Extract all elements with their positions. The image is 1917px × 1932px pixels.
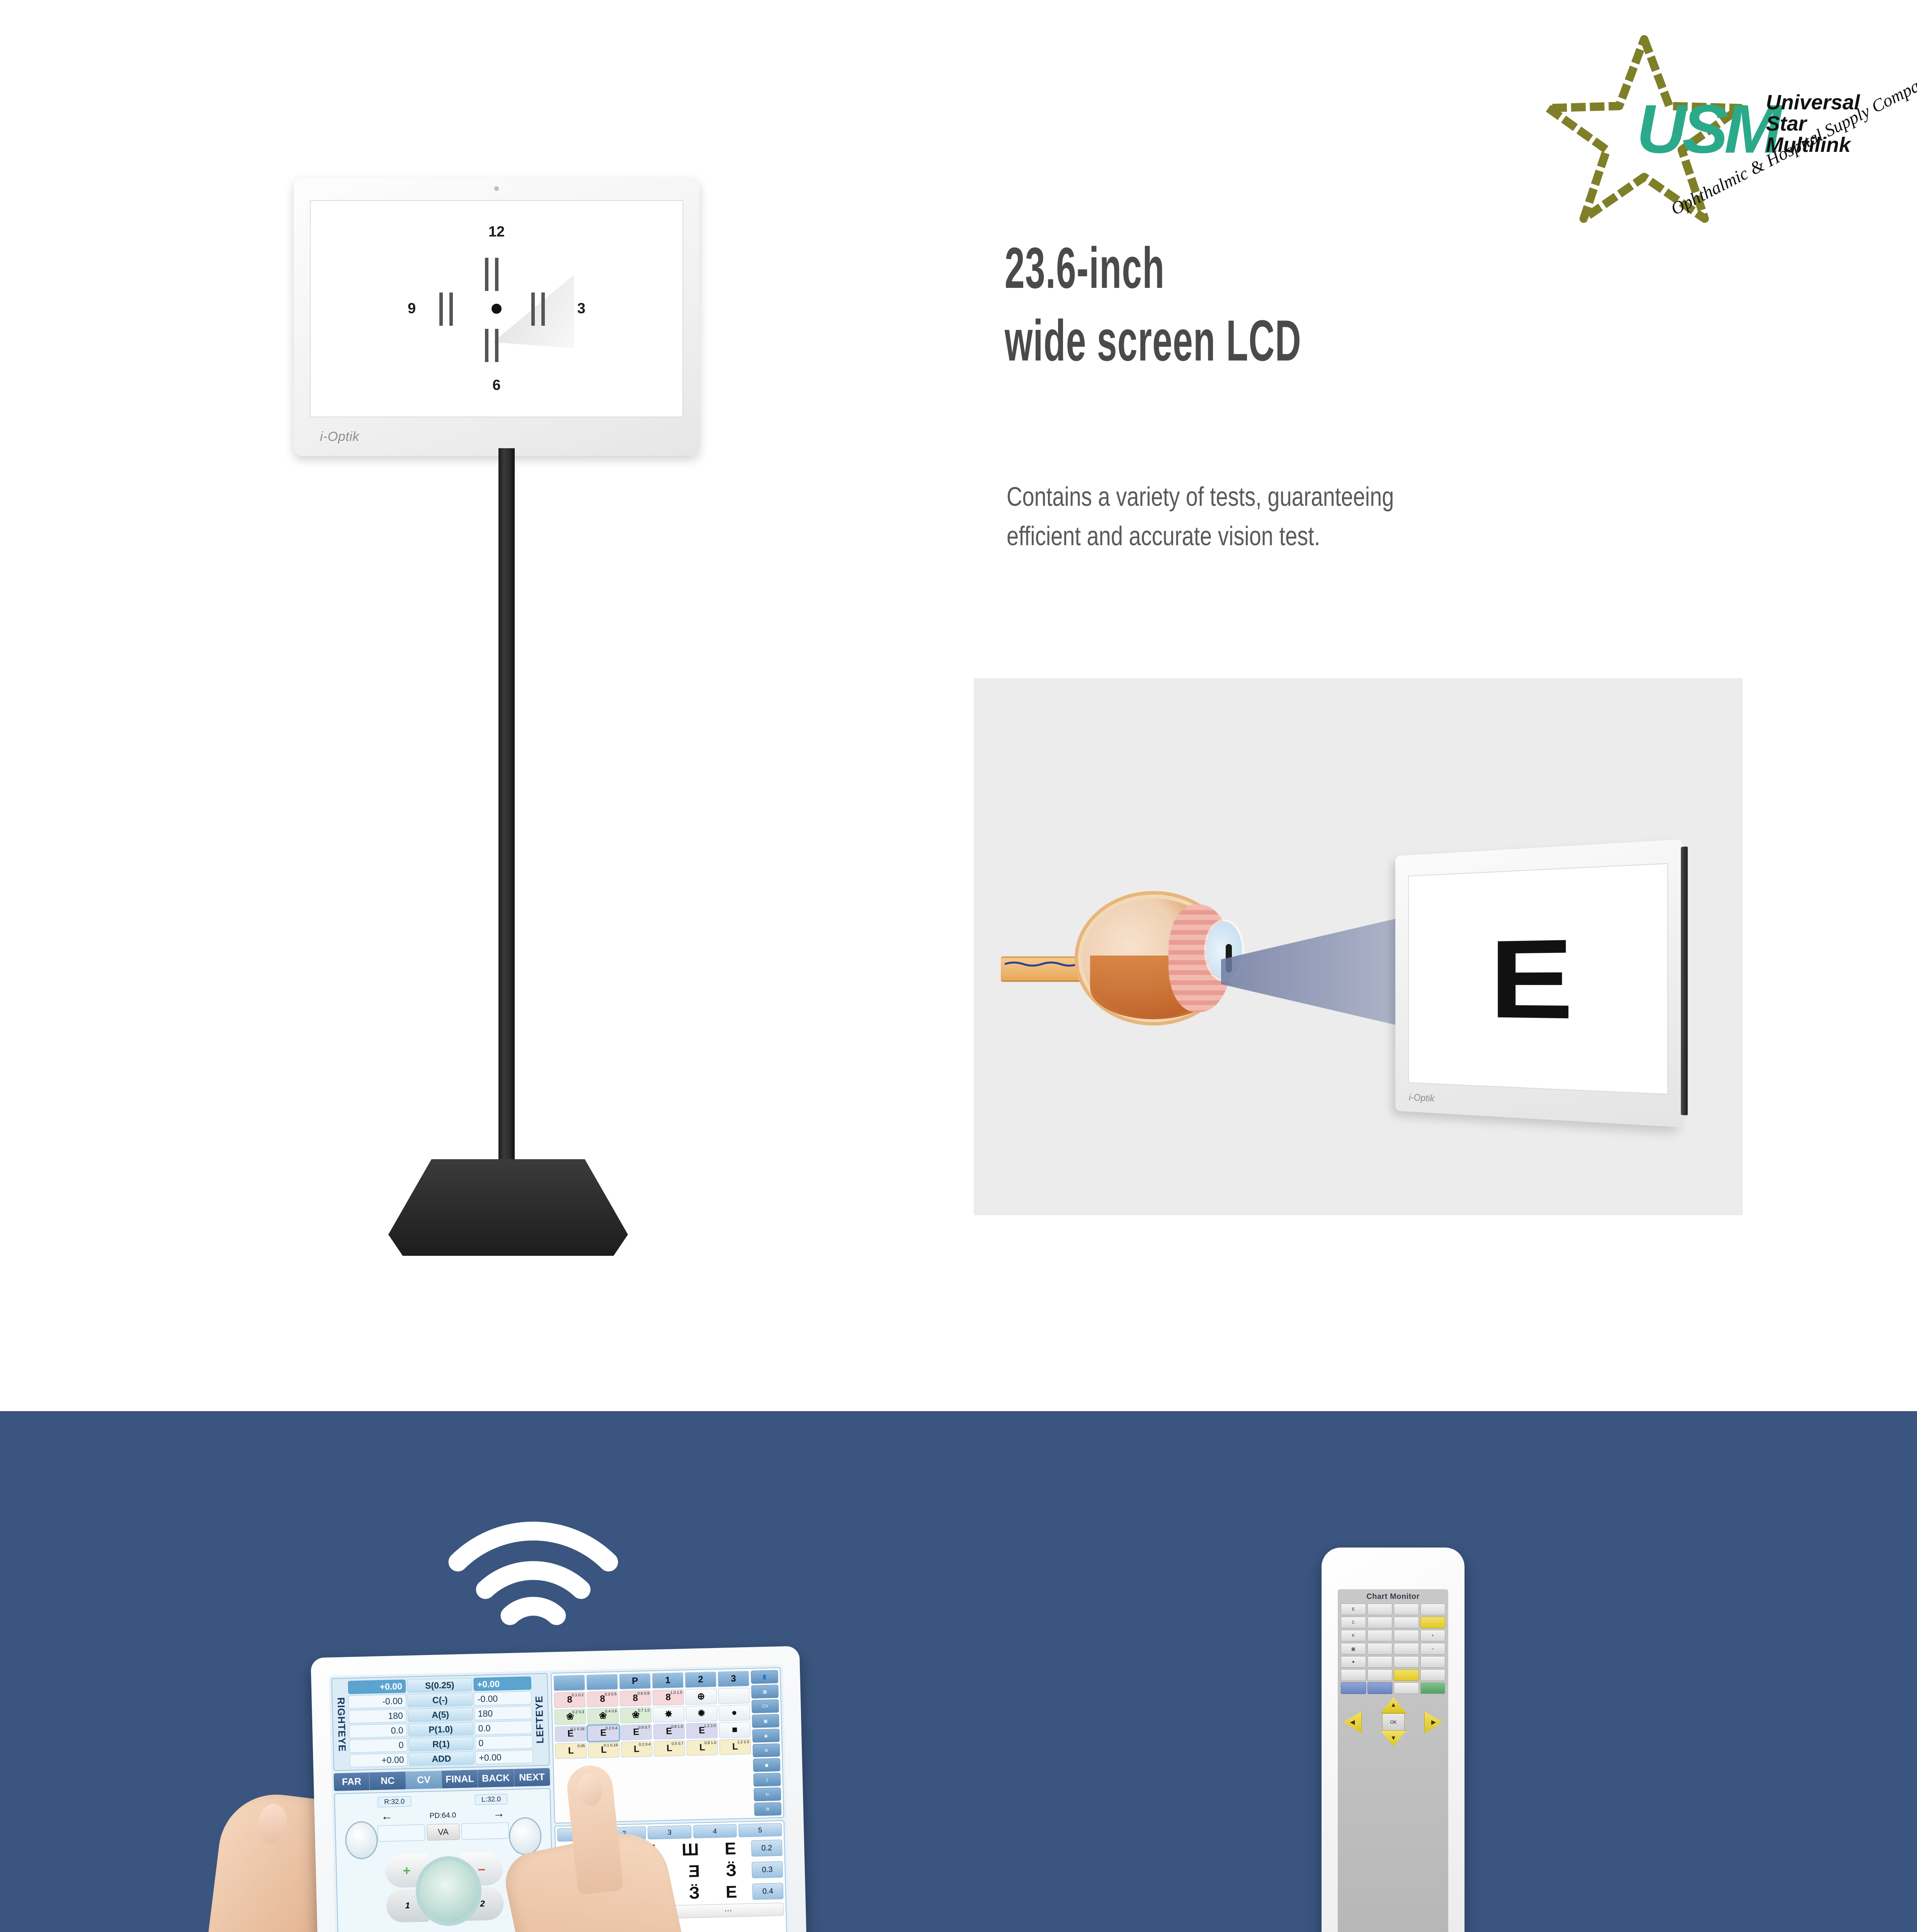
hero-title: 23.6-inch wide screen LCD xyxy=(1005,232,1816,377)
dial-number-9: 9 xyxy=(408,301,416,317)
chart-glyph: 1 xyxy=(665,1676,670,1685)
rx-param-label[interactable]: C(-) xyxy=(407,1692,473,1707)
arrow-right-icon[interactable]: → xyxy=(493,1808,505,1820)
dial-bar xyxy=(531,293,535,326)
dial-bar xyxy=(495,329,498,362)
prescription-grid: +0.00 S(0.25) +0.00 -0.00 C(-) -0.00 180… xyxy=(348,1677,533,1768)
nav-cv-button[interactable]: CV xyxy=(406,1770,442,1789)
dial-number-3: 3 xyxy=(577,301,585,317)
rx-right-value[interactable]: +0.00 xyxy=(350,1753,408,1768)
remote-key-chart-b[interactable] xyxy=(1394,1604,1419,1615)
remote-title: Chart Monitor xyxy=(1341,1592,1445,1601)
user-2-icon[interactable]: 2 xyxy=(685,1672,716,1688)
chart-glyph: ✹ xyxy=(697,1709,706,1718)
tab-page-4[interactable]: 4 xyxy=(693,1824,737,1838)
eye-panel-monitor-brand: i-Optik xyxy=(1409,1092,1435,1104)
optotype: Ш xyxy=(682,1840,699,1860)
optotype: Ӟ xyxy=(689,1883,700,1903)
number-chart-icon[interactable]: 80.1 0.2 xyxy=(554,1692,585,1708)
landolt-chart-icon[interactable]: L0.1 0.16 xyxy=(588,1742,620,1758)
brochure-page: USM Universal Star Multilink Ophthalmic … xyxy=(0,0,1917,1932)
dial-bar xyxy=(541,293,545,326)
chart-glyph: 2 xyxy=(698,1675,703,1684)
slit-lamp-icon[interactable]: ◉ xyxy=(752,1729,780,1743)
remote-key-misc[interactable] xyxy=(1341,1669,1366,1681)
optotype: E xyxy=(725,1839,737,1859)
usm-logo: USM Universal Star Multilink Ophthalmic … xyxy=(1540,27,1880,243)
dpad-ok-button[interactable]: OK xyxy=(1382,1713,1405,1731)
monitor-brand-label: i-Optik xyxy=(320,429,359,444)
remote-key-chart-f[interactable] xyxy=(1420,1617,1446,1628)
astigmatic-dial-chart: 12 3 6 9 xyxy=(408,224,585,394)
tulip-chart-icon[interactable]: ❀0.2 0.3 xyxy=(554,1709,586,1725)
e-chart-icon[interactable]: E0.8 1.0 xyxy=(653,1723,685,1740)
red-green-icon[interactable]: ■ xyxy=(719,1722,750,1738)
rx-left-value[interactable]: -0.00 xyxy=(474,1691,532,1706)
remote-key-chart-n[interactable] xyxy=(1368,1669,1393,1681)
chart-va-values: 0.5 0.7 xyxy=(638,1726,650,1730)
optotype: Ӟ xyxy=(726,1861,737,1881)
chart-va-values: 0.5 0.7 xyxy=(672,1742,684,1746)
remote-key-k[interactable]: K xyxy=(1341,1630,1366,1641)
vein-icon xyxy=(1005,961,1078,967)
rx-right-value[interactable]: +0.00 xyxy=(348,1680,406,1694)
hero-section: USM Universal Star Multilink Ophthalmic … xyxy=(0,0,1917,1411)
chart-va-values: 0.6 0.8 xyxy=(638,1692,650,1696)
rx-left-value[interactable]: 180 xyxy=(474,1706,532,1721)
chart-va-values: 0.05 xyxy=(577,1744,585,1748)
e-chart-icon[interactable]: E0.5 0.7 xyxy=(620,1724,652,1740)
tulip-chart-icon[interactable]: ❀0.4 0.6 xyxy=(587,1708,619,1724)
astig-dial-icon[interactable]: ✹ xyxy=(685,1706,717,1722)
fingernail xyxy=(577,1773,604,1807)
remote-key-white-1[interactable] xyxy=(1394,1682,1419,1694)
dial-number-6: 6 xyxy=(492,377,500,394)
chart-glyph: 3 xyxy=(731,1674,736,1684)
rx-param-label[interactable]: A(5) xyxy=(408,1707,473,1722)
tulip-chart-icon[interactable]: ❀0.7 1.0 xyxy=(620,1707,651,1723)
prescription-panel: RIGHTEYE +0.00 S(0.25) +0.00 -0.00 C(-) … xyxy=(331,1673,550,1771)
va-field-right[interactable] xyxy=(461,1822,509,1840)
remote-keypad[interactable]: Chart Monitor E C K + ▦ – ● xyxy=(1338,1589,1448,1932)
number-chart-icon[interactable]: 81.0 1.5 xyxy=(652,1689,684,1706)
number-chart-icon[interactable]: 80.6 0.8 xyxy=(619,1690,651,1706)
eye-panel-monitor: E i-Optik xyxy=(1395,839,1682,1128)
left-eye-label: LEFTEYE xyxy=(532,1676,546,1763)
remote-key-chart-i[interactable] xyxy=(1368,1643,1393,1655)
rx-param-label[interactable]: ADD xyxy=(409,1751,474,1766)
remote-key-chart-g[interactable] xyxy=(1368,1630,1393,1641)
chart-va-values: 1.2 2.0 xyxy=(704,1724,716,1728)
rx-left-value[interactable]: 0.0 xyxy=(475,1721,532,1735)
laptop-icon[interactable]: ▯ xyxy=(754,1773,781,1787)
cross-grid-icon[interactable]: ⊕ xyxy=(685,1689,717,1705)
chart-glyph: ■ xyxy=(732,1725,738,1735)
e-chart-icon[interactable]: E1.2 2.0 xyxy=(686,1723,718,1739)
chart-va-values: 0.8 1.0 xyxy=(704,1741,716,1745)
blank-icon xyxy=(718,1688,750,1704)
remote-key-chart-o[interactable] xyxy=(1394,1669,1419,1681)
landolt-chart-icon[interactable]: L1.2 2.0 xyxy=(719,1739,751,1755)
nav-far-button[interactable]: FAR xyxy=(333,1772,370,1791)
remote-key-e[interactable]: E xyxy=(1341,1604,1366,1615)
nav-final-button[interactable]: FINAL xyxy=(442,1770,478,1788)
dial-center-dot xyxy=(492,304,502,314)
chart-va-values: 0.1 0.16 xyxy=(604,1743,617,1748)
optotype: Ǝ xyxy=(688,1862,700,1881)
remote-key-chart-h[interactable] xyxy=(1394,1630,1419,1641)
remote-key-blue-1[interactable] xyxy=(1341,1682,1366,1694)
chart-monitor-stand: 12 3 6 9 xyxy=(270,178,734,1271)
chart-va-values: 1.0 1.5 xyxy=(670,1691,682,1695)
landolt-chart-icon[interactable]: L0.8 1.0 xyxy=(686,1740,718,1756)
remote-key-chart-j[interactable] xyxy=(1394,1643,1419,1655)
tab-page-3[interactable]: 3 xyxy=(648,1825,691,1840)
refresh-icon[interactable]: ↻ xyxy=(754,1787,781,1801)
optotype-e: E xyxy=(1490,934,1573,1025)
knob-left[interactable] xyxy=(345,1821,378,1860)
tab-page-5[interactable]: 5 xyxy=(738,1823,782,1837)
user-icon[interactable]: 👤 xyxy=(751,1670,778,1684)
remote-key-chart-p[interactable] xyxy=(1420,1669,1446,1681)
chart-glyph: P xyxy=(632,1677,638,1686)
rx-param-label[interactable]: S(0.25) xyxy=(407,1678,472,1692)
chart-va-values: 1.2 2.0 xyxy=(737,1740,749,1745)
va-tag[interactable]: 0.2 xyxy=(751,1840,782,1857)
remote-key-chart-m[interactable] xyxy=(1420,1656,1446,1668)
stand-pole xyxy=(498,448,515,1167)
dial-number-12: 12 xyxy=(488,224,505,240)
rx-right-value[interactable]: 180 xyxy=(349,1709,407,1724)
cv-7800-phoropter-icon[interactable]: CV xyxy=(752,1699,779,1713)
rx-param-label[interactable]: R(1) xyxy=(408,1736,474,1751)
stand-base xyxy=(388,1159,628,1256)
hero-body: Contains a variety of tests, guaranteein… xyxy=(1007,477,1779,556)
hero-body-line1: Contains a variety of tests, guaranteein… xyxy=(1007,477,1625,517)
pd-row: R:32.0 L:32.0 xyxy=(378,1794,508,1807)
photo-chart-icon[interactable] xyxy=(586,1674,618,1690)
gear-icon[interactable]: ⚙ xyxy=(754,1802,781,1816)
remote-key-dot[interactable]: ● xyxy=(1341,1656,1366,1668)
logo-tagline-wrap: Ophthalmic & Hospital Supply Company xyxy=(1667,143,1915,243)
optic-nerve xyxy=(1001,956,1090,982)
rx-right-value[interactable]: -0.00 xyxy=(348,1694,406,1709)
dpad-left-icon[interactable]: ◀ xyxy=(1343,1711,1362,1733)
dial-bar xyxy=(439,293,443,326)
eye-diagram-panel: E i-Optik xyxy=(974,678,1743,1215)
dial-bar xyxy=(485,329,488,362)
chart-glyph: ✸ xyxy=(665,1710,673,1719)
nav-nc-button[interactable]: NC xyxy=(370,1772,406,1790)
user-1-icon[interactable]: 1 xyxy=(652,1672,684,1689)
va-tag[interactable]: 0.4 xyxy=(752,1883,784,1900)
chart-va-values: 0.1 0.16 xyxy=(570,1727,584,1731)
remote-control[interactable]: Chart Monitor E C K + ▦ – ● xyxy=(1322,1548,1465,1932)
remote-dpad[interactable]: ▲ ◀ OK ▶ ▼ xyxy=(1341,1697,1445,1747)
optotype: E xyxy=(725,1883,737,1902)
eye-anatomy-illustration xyxy=(1078,895,1229,1022)
user-3-icon[interactable]: 3 xyxy=(718,1671,749,1687)
e-chart-icon[interactable]: E0.2 0.4 xyxy=(587,1725,619,1741)
nav-next-button[interactable]: NEXT xyxy=(514,1768,550,1787)
pd-left-value[interactable]: L:32.0 xyxy=(475,1794,508,1805)
hero-body-line2: efficient and accurate vision test. xyxy=(1007,517,1625,556)
chart-glyph: ⊕ xyxy=(697,1692,705,1701)
remote-key-c[interactable]: C xyxy=(1341,1617,1366,1628)
rx-param-label[interactable]: P(1.0) xyxy=(408,1722,473,1736)
chart-va-values: 0.7 1.0 xyxy=(638,1709,650,1713)
nav-back-button[interactable]: BACK xyxy=(478,1769,514,1787)
remote-key-plus[interactable]: + xyxy=(1420,1630,1446,1641)
chart-va-values: 0.4 0.6 xyxy=(605,1709,617,1714)
dot-chart-icon[interactable]: ● xyxy=(718,1705,750,1721)
rx-left-value[interactable]: 0 xyxy=(475,1735,533,1750)
knob-right[interactable] xyxy=(509,1817,542,1855)
landolt-chart-icon[interactable]: L0.2 0.4 xyxy=(621,1741,653,1757)
rx-left-value[interactable]: +0.00 xyxy=(473,1677,531,1691)
unit-icon[interactable]: ⚙ xyxy=(753,1743,780,1757)
remote-key-chart-c[interactable] xyxy=(1420,1604,1446,1615)
va-button[interactable]: VA xyxy=(427,1823,460,1840)
remote-key-grid[interactable]: E C K + ▦ – ● xyxy=(1341,1604,1445,1694)
remote-key-blue-2[interactable] xyxy=(1368,1682,1393,1694)
monitor-side-edge xyxy=(1681,847,1688,1116)
rx-right-value[interactable]: 0.0 xyxy=(349,1724,407,1738)
astig-fan-icon[interactable]: ✸ xyxy=(653,1706,684,1723)
hero-title-line1: 23.6-inch xyxy=(1005,232,1508,304)
chart-va-values: 0.2 0.3 xyxy=(572,1710,584,1714)
landolt-chart-icon[interactable]: L0.05 xyxy=(555,1743,587,1759)
va-tag[interactable]: 0.3 xyxy=(752,1861,783,1878)
camera-icon xyxy=(494,186,499,191)
remote-key-minus[interactable]: – xyxy=(1420,1643,1446,1655)
monitor-screen: 12 3 6 9 xyxy=(310,200,683,417)
chart-glyph: L xyxy=(568,1746,574,1755)
chart-va-values: 0.8 1.0 xyxy=(671,1725,683,1729)
dpad-up-icon[interactable]: ▲ xyxy=(1380,1697,1407,1713)
remote-key-grid[interactable]: ▦ xyxy=(1341,1643,1366,1655)
chart-va-values: 0.2 0.4 xyxy=(606,1726,617,1731)
chart-glyph: ● xyxy=(731,1708,737,1718)
p-chart-icon[interactable]: P xyxy=(619,1673,651,1689)
dial-bar xyxy=(449,293,453,326)
remote-key-chart-l[interactable] xyxy=(1394,1656,1419,1668)
pd-right-value[interactable]: R:32.0 xyxy=(378,1796,412,1807)
dpad-down-icon[interactable]: ▼ xyxy=(1380,1730,1407,1747)
rx-right-value[interactable]: 0 xyxy=(349,1738,407,1753)
mode-nav-bar[interactable]: FAR NC CV FINAL BACK NEXT xyxy=(333,1768,550,1791)
remote-key-chart-d[interactable] xyxy=(1368,1617,1393,1628)
rx-left-value[interactable]: +0.00 xyxy=(475,1750,533,1765)
remote-key-chart-e[interactable] xyxy=(1394,1617,1419,1628)
chart-va-values: 0.3 0.5 xyxy=(605,1692,617,1697)
e-chart-icon[interactable]: E0.1 0.16 xyxy=(555,1726,586,1742)
va-bar[interactable]: VA xyxy=(378,1822,509,1842)
keypad-icon[interactable]: ▦ xyxy=(751,1685,779,1699)
eye-panel-monitor-screen: E xyxy=(1408,863,1668,1095)
remote-key-chart-k[interactable] xyxy=(1368,1656,1393,1668)
dial-bar xyxy=(495,258,498,291)
chart-preview-icon[interactable]: ▣ xyxy=(752,1714,779,1728)
remote-key-green-1[interactable] xyxy=(1420,1682,1446,1694)
chart-va-values: 0.2 0.4 xyxy=(639,1743,651,1747)
number-chart-icon[interactable]: 80.3 0.5 xyxy=(587,1691,618,1707)
hero-title-line2: wide screen LCD xyxy=(1005,304,1508,377)
more-icon[interactable]: ⋯ xyxy=(672,1903,784,1918)
right-eye-label: RIGHTEYE xyxy=(334,1681,348,1768)
landolt-chart-icon[interactable]: L0.5 0.7 xyxy=(653,1740,685,1757)
wifi-icon xyxy=(444,1519,622,1634)
chart-va-values: 0.1 0.2 xyxy=(572,1693,584,1697)
table-row[interactable]: +0.00 ADD +0.00 xyxy=(350,1750,533,1768)
dpad-right-icon[interactable]: ▶ xyxy=(1424,1711,1443,1733)
chart-monitor: 12 3 6 9 xyxy=(294,178,699,456)
tablet-side-rail[interactable]: 👤 ▦ CV ▣ ◉ ⚙ ◼ ▯ ↻ ⚙ xyxy=(751,1670,781,1816)
thumbnail xyxy=(255,1802,289,1845)
lines-chart-icon[interactable] xyxy=(553,1675,585,1691)
dial-bar xyxy=(485,258,488,291)
va-field-left[interactable] xyxy=(378,1824,425,1842)
remote-key-chart-a[interactable] xyxy=(1368,1604,1393,1615)
projector-icon[interactable]: ◼ xyxy=(753,1758,781,1772)
